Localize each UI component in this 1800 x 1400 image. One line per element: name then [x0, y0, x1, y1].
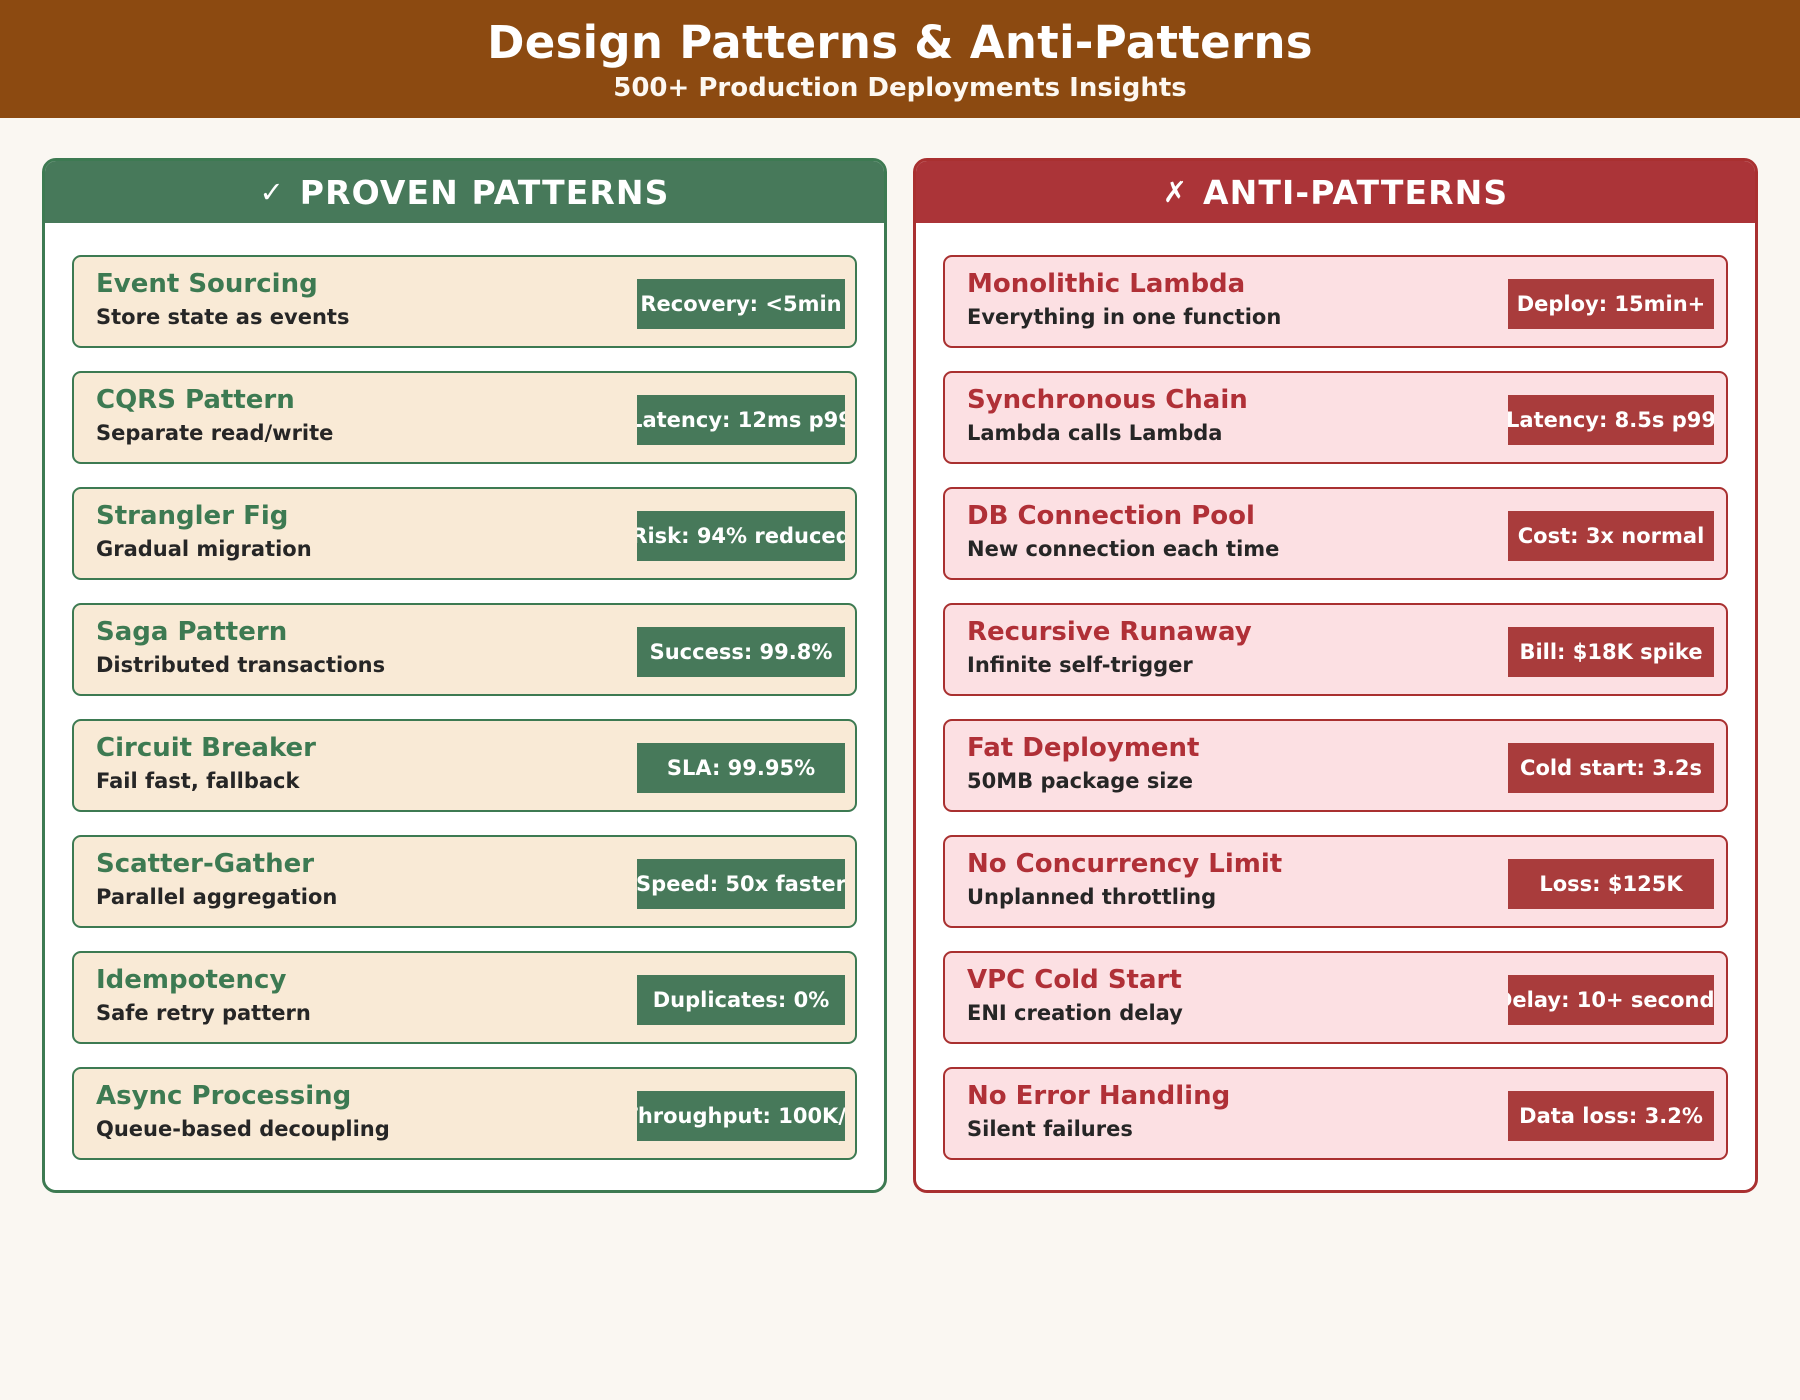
antipattern-card-metric-badge: Cold start: 3.2s: [1508, 743, 1714, 793]
pattern-card[interactable]: Circuit Breaker Fail fast, fallback SLA:…: [72, 719, 857, 812]
antipattern-card-description: Everything in one function: [967, 305, 1281, 330]
pattern-card[interactable]: CQRS Pattern Separate read/write Latency…: [72, 371, 857, 464]
pattern-card-metric-badge: Recovery: <5min: [637, 279, 845, 329]
antipattern-card-metric-badge: Loss: $125K: [1508, 859, 1714, 909]
pattern-card-metric-badge: Risk: 94% reduced: [637, 511, 845, 561]
antipattern-card[interactable]: Monolithic Lambda Everything in one func…: [943, 255, 1728, 348]
pattern-card-title: CQRS Pattern: [96, 385, 333, 416]
antipattern-card[interactable]: Fat Deployment 50MB package size Cold st…: [943, 719, 1728, 812]
pattern-card-title: Event Sourcing: [96, 269, 349, 300]
pattern-card-metric-badge: SLA: 99.95%: [637, 743, 845, 793]
pattern-card[interactable]: Idempotency Safe retry pattern Duplicate…: [72, 951, 857, 1044]
page-title: Design Patterns & Anti-Patterns: [487, 19, 1313, 66]
panel-header-proven-patterns: ✓ PROVEN PATTERNS: [45, 161, 884, 223]
pattern-card-description: Gradual migration: [96, 537, 312, 562]
check-icon: ✓: [259, 178, 283, 207]
pattern-card-metric-badge: Success: 99.8%: [637, 627, 845, 677]
pattern-card-title: Circuit Breaker: [96, 733, 316, 764]
antipattern-card-title: VPC Cold Start: [967, 965, 1183, 996]
antipattern-card-title: Synchronous Chain: [967, 385, 1248, 416]
antipattern-card-title: No Concurrency Limit: [967, 849, 1282, 880]
pattern-card-description: Parallel aggregation: [96, 885, 337, 910]
pattern-card-metric-badge: Duplicates: 0%: [637, 975, 845, 1025]
panel-title-anti-patterns: ANTI-PATTERNS: [1203, 173, 1508, 212]
page-subtitle: 500+ Production Deployments Insights: [613, 75, 1187, 102]
pattern-card-description: Distributed transactions: [96, 653, 385, 678]
antipattern-card[interactable]: No Concurrency Limit Unplanned throttlin…: [943, 835, 1728, 928]
antipattern-card-metric-badge: Latency: 8.5s p99: [1508, 395, 1714, 445]
pattern-card[interactable]: Event Sourcing Store state as events Rec…: [72, 255, 857, 348]
panel-anti-patterns: ✗ ANTI-PATTERNS Monolithic Lambda Everyt…: [913, 158, 1758, 1193]
antipattern-card[interactable]: VPC Cold Start ENI creation delay Delay:…: [943, 951, 1728, 1044]
pattern-card-title: Idempotency: [96, 965, 311, 996]
cross-icon: ✗: [1163, 178, 1187, 207]
page-header: Design Patterns & Anti-Patterns 500+ Pro…: [0, 0, 1800, 118]
pattern-card[interactable]: Strangler Fig Gradual migration Risk: 94…: [72, 487, 857, 580]
antipattern-card-metric-badge: Delay: 10+ seconds: [1508, 975, 1714, 1025]
pattern-card-description: Safe retry pattern: [96, 1001, 311, 1026]
antipattern-card-metric-badge: Cost: 3x normal: [1508, 511, 1714, 561]
antipattern-card-title: DB Connection Pool: [967, 501, 1279, 532]
infographic-page: Design Patterns & Anti-Patterns 500+ Pro…: [0, 0, 1800, 1400]
pattern-card-title: Scatter-Gather: [96, 849, 337, 880]
pattern-card[interactable]: Async Processing Queue-based decoupling …: [72, 1067, 857, 1160]
antipattern-card-description: Unplanned throttling: [967, 885, 1282, 910]
antipattern-card-description: 50MB package size: [967, 769, 1199, 794]
antipattern-card-metric-badge: Bill: $18K spike: [1508, 627, 1714, 677]
pattern-card-description: Queue-based decoupling: [96, 1117, 390, 1142]
antipattern-card-title: No Error Handling: [967, 1081, 1230, 1112]
panel-body-anti-patterns: Monolithic Lambda Everything in one func…: [916, 223, 1755, 1190]
pattern-card-metric-badge: Latency: 12ms p99: [637, 395, 845, 445]
panel-title-proven-patterns: PROVEN PATTERNS: [300, 173, 670, 212]
antipattern-card[interactable]: Synchronous Chain Lambda calls Lambda La…: [943, 371, 1728, 464]
pattern-card[interactable]: Saga Pattern Distributed transactions Su…: [72, 603, 857, 696]
pattern-card-description: Separate read/write: [96, 421, 333, 446]
pattern-card-metric-badge: Speed: 50x faster: [637, 859, 845, 909]
antipattern-card-description: Infinite self-trigger: [967, 653, 1252, 678]
antipattern-card-title: Recursive Runaway: [967, 617, 1252, 648]
pattern-card-title: Saga Pattern: [96, 617, 385, 648]
antipattern-card-metric-badge: Deploy: 15min+: [1508, 279, 1714, 329]
antipattern-card-title: Monolithic Lambda: [967, 269, 1281, 300]
antipattern-card-description: Lambda calls Lambda: [967, 421, 1248, 446]
pattern-card-metric-badge: Throughput: 100K/s: [637, 1091, 845, 1141]
antipattern-card[interactable]: DB Connection Pool New connection each t…: [943, 487, 1728, 580]
antipattern-card-metric-badge: Data loss: 3.2%: [1508, 1091, 1714, 1141]
antipattern-card-description: New connection each time: [967, 537, 1279, 562]
panel-header-anti-patterns: ✗ ANTI-PATTERNS: [916, 161, 1755, 223]
antipattern-card[interactable]: Recursive Runaway Infinite self-trigger …: [943, 603, 1728, 696]
pattern-card-description: Store state as events: [96, 305, 349, 330]
pattern-card-description: Fail fast, fallback: [96, 769, 316, 794]
pattern-card-title: Async Processing: [96, 1081, 390, 1112]
pattern-card[interactable]: Scatter-Gather Parallel aggregation Spee…: [72, 835, 857, 928]
antipattern-card-description: Silent failures: [967, 1117, 1230, 1142]
panel-proven-patterns: ✓ PROVEN PATTERNS Event Sourcing Store s…: [42, 158, 887, 1193]
panel-columns: ✓ PROVEN PATTERNS Event Sourcing Store s…: [0, 158, 1800, 1193]
antipattern-card-title: Fat Deployment: [967, 733, 1199, 764]
antipattern-card[interactable]: No Error Handling Silent failures Data l…: [943, 1067, 1728, 1160]
pattern-card-title: Strangler Fig: [96, 501, 312, 532]
panel-body-proven-patterns: Event Sourcing Store state as events Rec…: [45, 223, 884, 1190]
antipattern-card-description: ENI creation delay: [967, 1001, 1183, 1026]
